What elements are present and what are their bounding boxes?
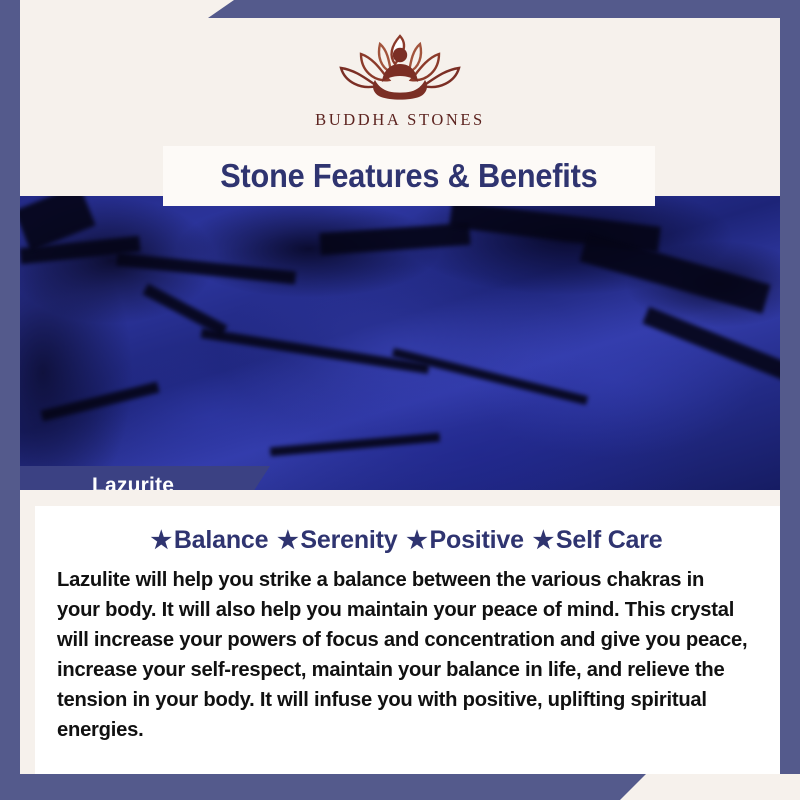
page-title: Stone Features & Benefits bbox=[220, 157, 597, 195]
keyword-self-care: Self Care bbox=[556, 526, 663, 554]
title-banner: Stone Features & Benefits bbox=[163, 146, 655, 206]
stone-photo: Lazurite bbox=[20, 196, 780, 490]
stone-description: Lazulite will help you strike a balance … bbox=[57, 565, 747, 745]
frame-top-bar bbox=[208, 0, 800, 18]
keyword-positive: Positive bbox=[430, 526, 524, 554]
stone-name-label: Lazurite bbox=[20, 474, 174, 490]
stone-photo-crevices bbox=[20, 196, 780, 490]
star-icon: ★ bbox=[406, 527, 427, 554]
frame-bottom-notch bbox=[620, 774, 800, 800]
brand-logo: BUDDHA STONES bbox=[20, 18, 780, 144]
content-card: ★Balance ★Serenity ★Positive ★Self Care … bbox=[35, 506, 780, 774]
frame-right-bar bbox=[780, 0, 800, 800]
keyword-balance: Balance bbox=[174, 526, 269, 554]
stone-name-badge: Lazurite bbox=[20, 466, 270, 490]
stone-benefits-poster: BUDDHA STONES Stone Features & Benefits bbox=[0, 0, 800, 800]
star-icon: ★ bbox=[533, 527, 554, 554]
lotus-meditation-icon bbox=[325, 28, 475, 106]
keyword-list: ★Balance ★Serenity ★Positive ★Self Care bbox=[57, 526, 758, 555]
brand-name: BUDDHA STONES bbox=[315, 110, 485, 130]
star-icon: ★ bbox=[151, 527, 172, 554]
page-body: BUDDHA STONES Stone Features & Benefits bbox=[20, 18, 780, 774]
keyword-serenity: Serenity bbox=[300, 526, 397, 554]
frame-left-bar bbox=[0, 0, 20, 800]
star-icon: ★ bbox=[277, 527, 298, 554]
